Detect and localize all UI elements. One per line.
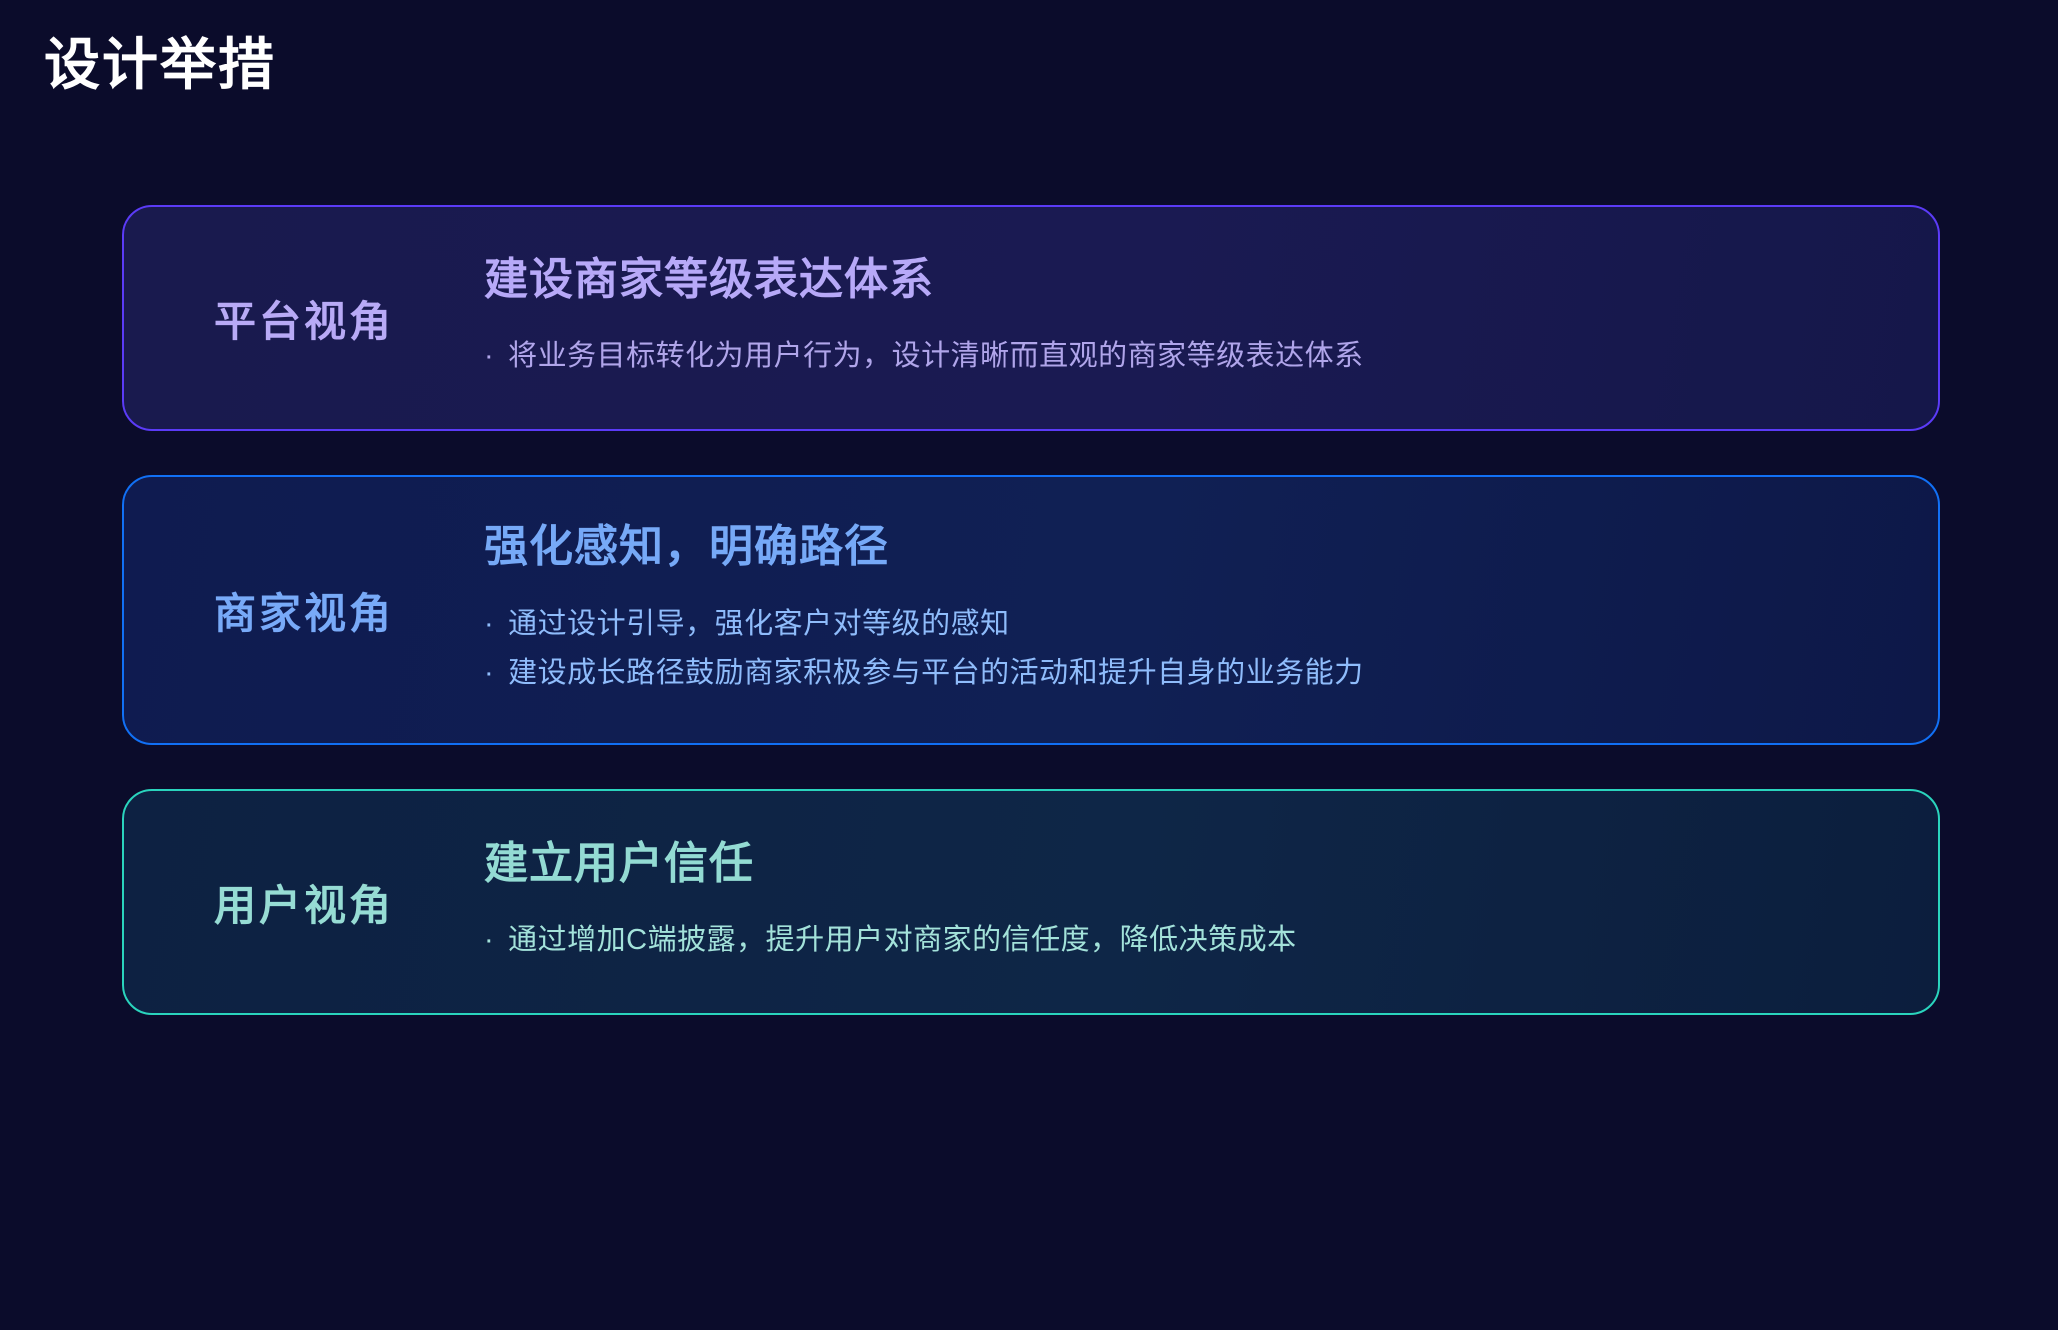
list-item: · 将业务目标转化为用户行为，设计清晰而直观的商家等级表达体系	[484, 332, 1898, 382]
bullet-dot-icon: ·	[484, 649, 494, 699]
card-platform-perspective[interactable]: 平台视角 建设商家等级表达体系 · 将业务目标转化为用户行为，设计清晰而直观的商…	[122, 205, 1940, 431]
perspective-label-wrap-merchant: 商家视角	[124, 580, 484, 641]
slide-root: 设计举措 平台视角 建设商家等级表达体系 · 将业务目标转化为用户行为，设计清晰…	[0, 0, 2058, 1330]
bullet-list-merchant: · 通过设计引导，强化客户对等级的感知 · 建设成长路径鼓励商家积极参与平台的活…	[484, 600, 1898, 700]
card-user-perspective[interactable]: 用户视角 建立用户信任 · 通过增加C端披露，提升用户对商家的信任度，降低决策成…	[122, 789, 1940, 1015]
card-headline-merchant: 强化感知，明确路径	[484, 521, 1898, 574]
list-item: · 通过增加C端披露，提升用户对商家的信任度，降低决策成本	[484, 916, 1898, 966]
perspective-label-merchant: 商家视角	[214, 580, 394, 641]
list-item: · 通过设计引导，强化客户对等级的感知	[484, 600, 1898, 650]
bullet-dot-icon: ·	[484, 332, 494, 382]
perspective-label-platform: 平台视角	[214, 288, 394, 349]
bullet-text: 将业务目标转化为用户行为，设计清晰而直观的商家等级表达体系	[508, 332, 1898, 382]
bullet-dot-icon: ·	[484, 600, 494, 650]
card-merchant-perspective[interactable]: 商家视角 强化感知，明确路径 · 通过设计引导，强化客户对等级的感知 · 建设成…	[122, 475, 1940, 745]
bullet-list-user: · 通过增加C端披露，提升用户对商家的信任度，降低决策成本	[484, 916, 1898, 966]
card-headline-platform: 建设商家等级表达体系	[484, 254, 1898, 307]
perspective-label-wrap-platform: 平台视角	[124, 288, 484, 349]
bullet-list-platform: · 将业务目标转化为用户行为，设计清晰而直观的商家等级表达体系	[484, 332, 1898, 382]
card-content-platform: 建设商家等级表达体系 · 将业务目标转化为用户行为，设计清晰而直观的商家等级表达…	[484, 254, 1938, 383]
list-item: · 建设成长路径鼓励商家积极参与平台的活动和提升自身的业务能力	[484, 649, 1898, 699]
page-title: 设计举措	[44, 30, 276, 100]
bullet-text: 通过设计引导，强化客户对等级的感知	[508, 600, 1898, 650]
design-measures-card-list: 平台视角 建设商家等级表达体系 · 将业务目标转化为用户行为，设计清晰而直观的商…	[122, 205, 1940, 1059]
card-content-user: 建立用户信任 · 通过增加C端披露，提升用户对商家的信任度，降低决策成本	[484, 838, 1938, 967]
perspective-label-wrap-user: 用户视角	[124, 872, 484, 933]
card-headline-user: 建立用户信任	[484, 838, 1898, 891]
bullet-text: 建设成长路径鼓励商家积极参与平台的活动和提升自身的业务能力	[508, 649, 1898, 699]
bullet-text: 通过增加C端披露，提升用户对商家的信任度，降低决策成本	[508, 916, 1898, 966]
perspective-label-user: 用户视角	[214, 872, 394, 933]
card-content-merchant: 强化感知，明确路径 · 通过设计引导，强化客户对等级的感知 · 建设成长路径鼓励…	[484, 521, 1938, 700]
bullet-dot-icon: ·	[484, 916, 494, 966]
